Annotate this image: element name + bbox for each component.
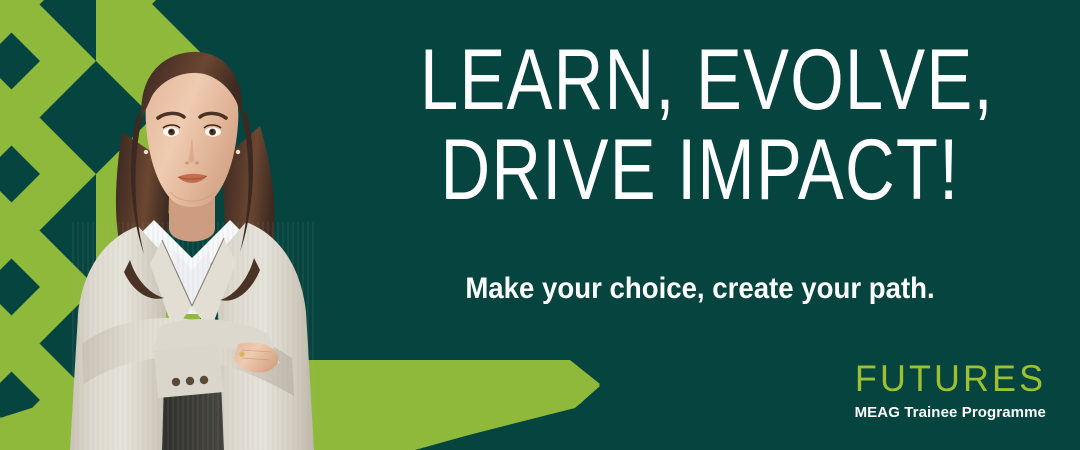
logo-wordmark: FUTURES	[855, 360, 1046, 397]
portrait-svg	[42, 14, 342, 450]
headline-block: LEARN, EVOLVE, DRIVE IMPACT!	[350, 38, 1050, 213]
logo-tagline: MEAG Trainee Programme	[849, 405, 1046, 420]
banner-root: LEARN, EVOLVE, DRIVE IMPACT! Make your c…	[0, 0, 1080, 450]
headline-line-2: DRIVE IMPACT!	[420, 128, 980, 212]
futures-logo-lockup: FUTURES MEAG Trainee Programme	[849, 360, 1046, 420]
subheading-text: Make your choice, create your path.	[378, 272, 1022, 306]
portrait-image	[42, 14, 342, 450]
headline-line-1: LEARN, EVOLVE,	[420, 38, 980, 122]
